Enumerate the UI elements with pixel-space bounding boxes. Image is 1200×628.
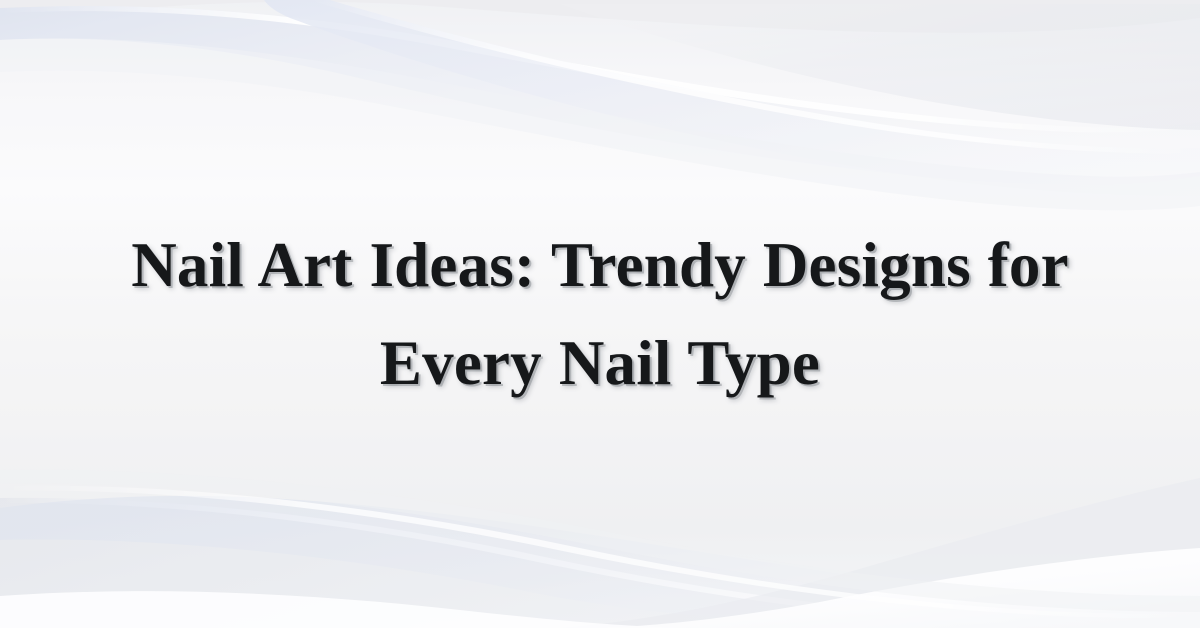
og-card: Nail Art Ideas: Trendy Designs for Every… bbox=[0, 0, 1200, 628]
page-title: Nail Art Ideas: Trendy Designs for Every… bbox=[100, 216, 1100, 413]
title-container: Nail Art Ideas: Trendy Designs for Every… bbox=[0, 0, 1200, 628]
